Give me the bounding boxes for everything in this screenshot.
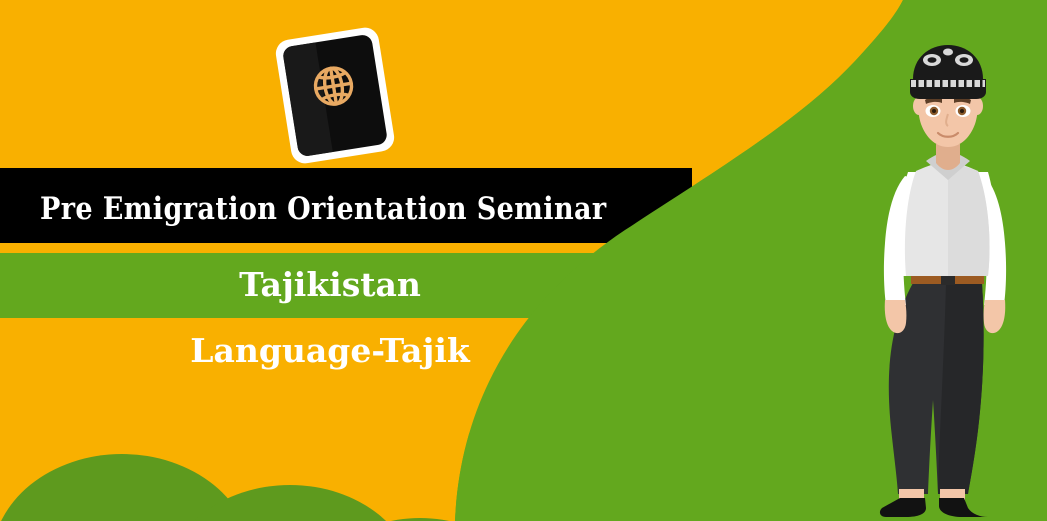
shoe-right [939, 498, 988, 517]
hand-right [984, 300, 1006, 333]
collar-neck [936, 144, 960, 170]
shoe-left [880, 498, 926, 517]
pupil-left [932, 109, 936, 113]
cap-trim-pattern [916, 80, 983, 87]
pupil-right [960, 109, 964, 113]
hand-left [885, 300, 907, 333]
tajik-man-illustration [0, 0, 1047, 521]
banner-canvas: Pre Emigration Orientation Seminar Tajik… [0, 0, 1047, 521]
